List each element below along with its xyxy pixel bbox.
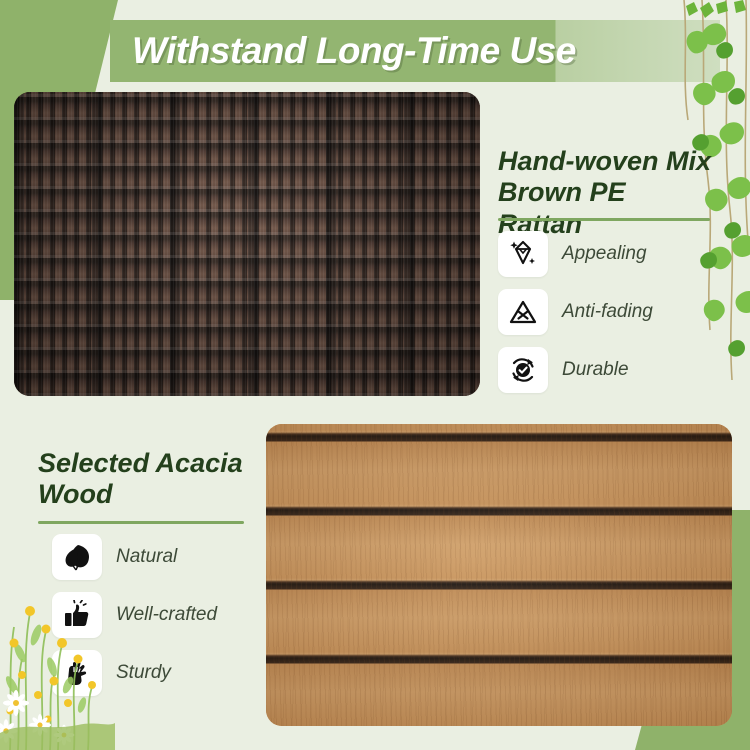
header-banner: Withstand Long-Time Use xyxy=(110,20,720,82)
rattan-vignette xyxy=(14,92,480,396)
feature-label: Sturdy xyxy=(116,662,171,684)
page-title: Withstand Long-Time Use xyxy=(132,30,576,72)
feature-well-crafted: Well-crafted xyxy=(52,592,217,638)
rattan-weave-photo xyxy=(14,92,480,396)
feature-label: Well-crafted xyxy=(116,604,217,626)
feature-appealing: Appealing xyxy=(498,231,647,277)
triangle-x-anti-fading-icon xyxy=(498,289,548,335)
feature-label: Durable xyxy=(562,359,629,381)
wood-vignette xyxy=(266,424,732,726)
rattan-divider xyxy=(498,218,710,221)
feature-label: Appealing xyxy=(562,243,647,265)
feature-label: Natural xyxy=(116,546,177,568)
diamond-sparkle-icon xyxy=(498,231,548,277)
wood-heading: Selected Acacia Wood xyxy=(38,448,248,511)
fist-sturdy-icon xyxy=(52,650,102,696)
thumbs-up-well-crafted-icon xyxy=(52,592,102,638)
feature-durable: Durable xyxy=(498,347,629,393)
feature-label: Anti-fading xyxy=(562,301,653,323)
feature-sturdy: Sturdy xyxy=(52,650,171,696)
rattan-heading: Hand-woven Mix Brown PE Rattan xyxy=(498,146,713,240)
feature-natural: Natural xyxy=(52,534,177,580)
promo-graphic: Withstand Long-Time Use xyxy=(0,0,750,750)
leaves-natural-icon xyxy=(52,534,102,580)
wood-divider xyxy=(38,521,244,524)
acacia-wood-photo xyxy=(266,424,732,726)
refresh-check-durable-icon xyxy=(498,347,548,393)
feature-anti-fading: Anti-fading xyxy=(498,289,653,335)
